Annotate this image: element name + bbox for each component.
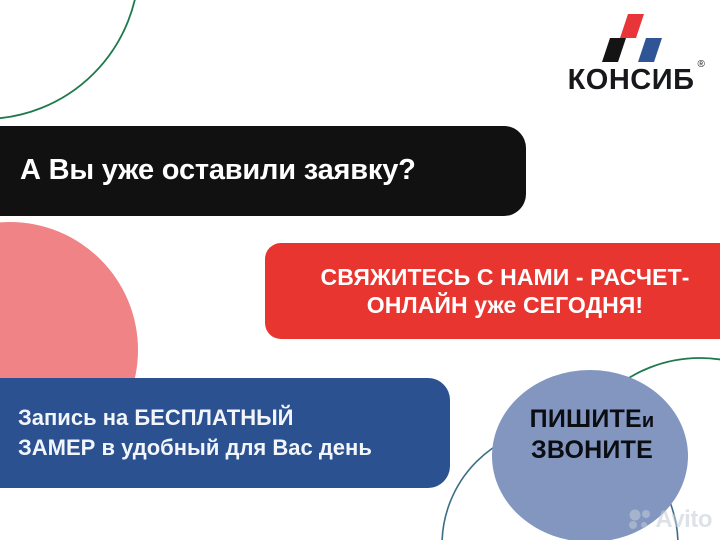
- promo-banner-canvas: КОНСИБ ® А Вы уже оставили заявку? СВЯЖИ…: [0, 0, 720, 540]
- avito-watermark-text: Avito: [655, 508, 712, 532]
- free-measure-text: Запись на БЕСПЛАТНЫЙ ЗАМЕР в удобный для…: [18, 403, 372, 462]
- free-measure-banner: Запись на БЕСПЛАТНЫЙ ЗАМЕР в удобный для…: [0, 378, 450, 488]
- offer-line-2-strong-a: ОНЛАЙН: [367, 292, 468, 318]
- logo-parallelogram-red: [620, 14, 644, 38]
- contact-cta-text: ПИШИТЕи ЗВОНИТЕ: [492, 404, 692, 467]
- logo-mark-icon: [594, 14, 668, 64]
- logo-parallelogram-blue: [638, 38, 662, 62]
- headline-banner: А Вы уже оставили заявку?: [0, 126, 526, 216]
- contact-cta-line-1-lowercase: и: [642, 410, 655, 432]
- logo-parallelogram-black: [602, 38, 626, 62]
- avito-dots-icon: [628, 509, 652, 531]
- offer-banner: СВЯЖИТЕСЬ С НАМИ - РАСЧЕТ- ОНЛАЙН уже СЕ…: [265, 243, 720, 339]
- free-measure-line-1: Запись на БЕСПЛАТНЫЙ: [18, 405, 293, 430]
- green-circle-outline-topleft: [0, 0, 139, 119]
- registered-trademark-icon: ®: [698, 60, 706, 70]
- avito-watermark: Avito: [628, 508, 712, 532]
- offer-line-2-lowercase: уже: [474, 292, 516, 318]
- headline-text: А Вы уже оставили заявку?: [20, 155, 416, 187]
- logo-wordmark: КОНСИБ ®: [568, 66, 695, 95]
- offer-line-2-strong-b: СЕГОДНЯ!: [523, 292, 643, 318]
- contact-cta-line-1-strong: ПИШИТЕ: [530, 405, 642, 433]
- free-measure-line-2: ЗАМЕР в удобный для Вас день: [18, 435, 372, 460]
- brand-logo: КОНСИБ ®: [556, 14, 706, 95]
- offer-text: СВЯЖИТЕСЬ С НАМИ - РАСЧЕТ- ОНЛАЙН уже СЕ…: [321, 263, 690, 319]
- offer-line-1: СВЯЖИТЕСЬ С НАМИ - РАСЧЕТ-: [321, 264, 690, 290]
- contact-cta-line-2: ЗВОНИТЕ: [531, 436, 653, 464]
- logo-wordmark-text: КОНСИБ: [568, 64, 695, 96]
